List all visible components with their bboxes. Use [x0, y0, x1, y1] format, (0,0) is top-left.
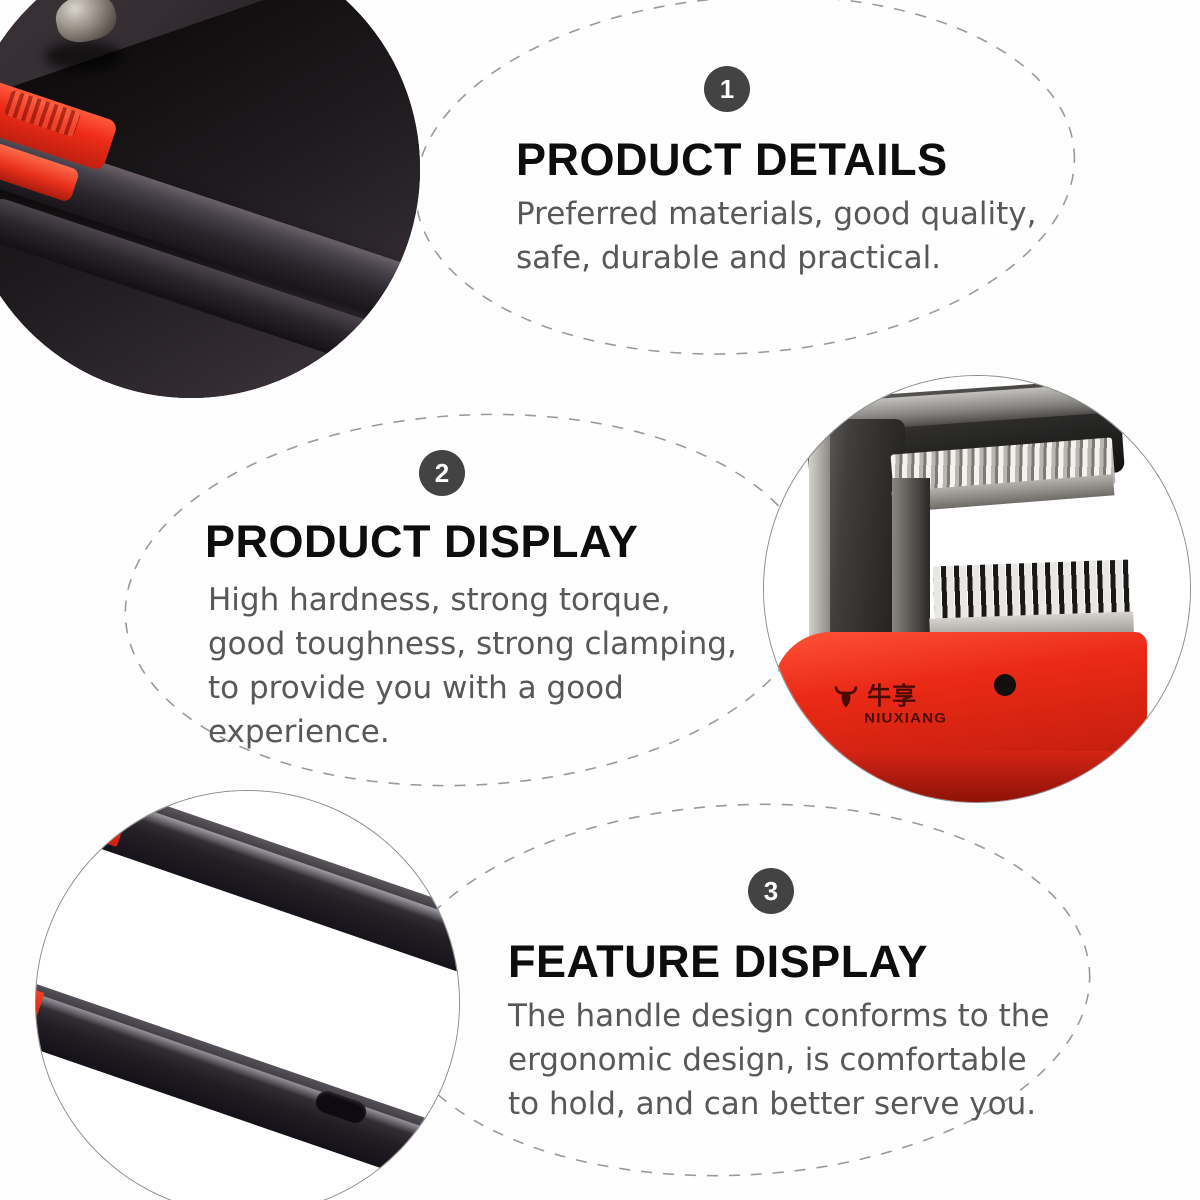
- step-badge-3: 3: [748, 868, 794, 914]
- bolt-shadow: [44, 41, 122, 71]
- section-2-body-line: good toughness, strong clamping,: [208, 622, 737, 666]
- section-3-body-line: ergonomic design, is comfortable: [508, 1038, 1050, 1082]
- section-1-body-line: safe, durable and practical.: [516, 236, 1036, 280]
- section-3-body: The handle design conforms to the ergono…: [508, 994, 1050, 1126]
- product-photo-wrench-head: 牛享 NIUXIANG: [763, 375, 1191, 803]
- section-1-heading: PRODUCT DETAILS: [516, 134, 1036, 186]
- section-product-display: 2 PRODUCT DISPLAY High hardness, strong …: [205, 450, 737, 754]
- section-2-heading: PRODUCT DISPLAY: [205, 516, 737, 568]
- section-2-body-line: experience.: [208, 710, 737, 754]
- wrench-red-lip: [815, 751, 1113, 802]
- section-1-body-line: Preferred materials, good quality,: [516, 192, 1036, 236]
- product-photo-handle-bolt: [0, 0, 420, 398]
- brand-logo: 牛享 NIUXIANG: [832, 683, 1019, 726]
- section-2-body: High hardness, strong torque, good tough…: [208, 578, 737, 754]
- infographic-canvas: 牛享 NIUXIANG 1 PRODUCT DETAILS Preferred …: [0, 0, 1200, 1200]
- step-badge-1: 1: [704, 66, 750, 112]
- section-1-body: Preferred materials, good quality, safe,…: [516, 192, 1036, 280]
- section-3-body-line: to hold, and can better serve you.: [508, 1082, 1050, 1126]
- section-2-body-line: to provide you with a good: [208, 666, 737, 710]
- step-badge-2: 2: [419, 450, 465, 496]
- section-3-heading: FEATURE DISPLAY: [508, 936, 1050, 988]
- section-feature-display: 3 FEATURE DISPLAY The handle design conf…: [508, 868, 1050, 1126]
- section-product-details: 1 PRODUCT DETAILS Preferred materials, g…: [516, 66, 1036, 280]
- brand-logo-row: 牛享: [832, 683, 1019, 709]
- section-3-body-line: The handle design conforms to the: [508, 994, 1050, 1038]
- product-photo-handles: [35, 790, 460, 1200]
- bull-head-icon: [832, 683, 860, 709]
- section-2-body-line: High hardness, strong torque,: [208, 578, 737, 622]
- brand-chinese-name: 牛享: [867, 684, 917, 708]
- wrench-shank: [892, 478, 930, 648]
- brand-latin-name: NIUXIANG: [864, 711, 1019, 725]
